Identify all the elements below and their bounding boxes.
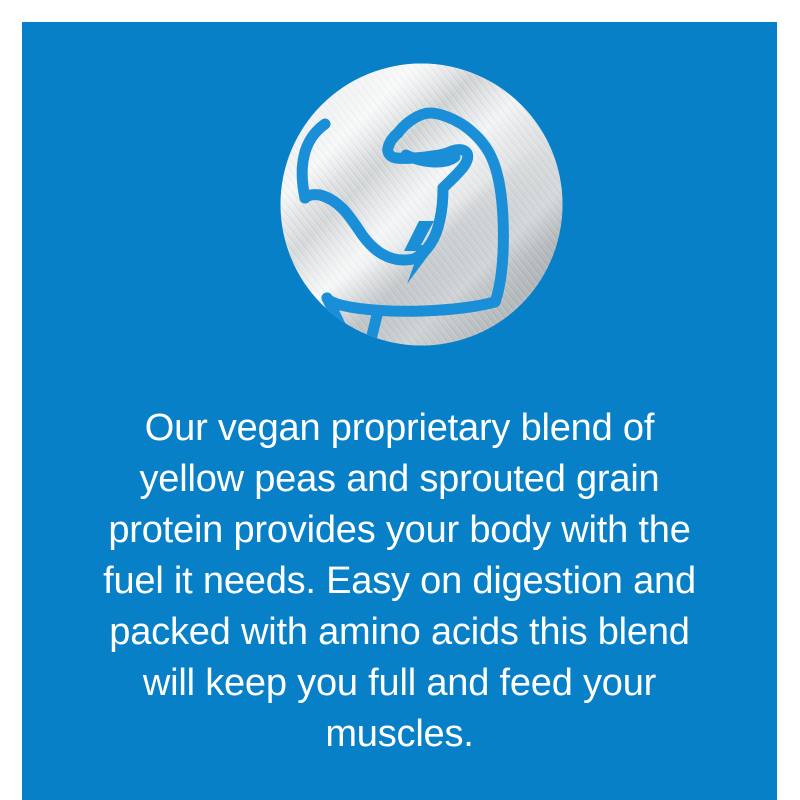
product-feature-card: Our vegan proprietary blend of yellow pe…	[22, 22, 777, 800]
badge-medallion	[280, 63, 563, 346]
flexed-bicep-muscle-medallion-icon	[280, 63, 563, 346]
product-description-text: Our vegan proprietary blend of yellow pe…	[22, 403, 777, 760]
medallion-disc	[280, 63, 563, 346]
